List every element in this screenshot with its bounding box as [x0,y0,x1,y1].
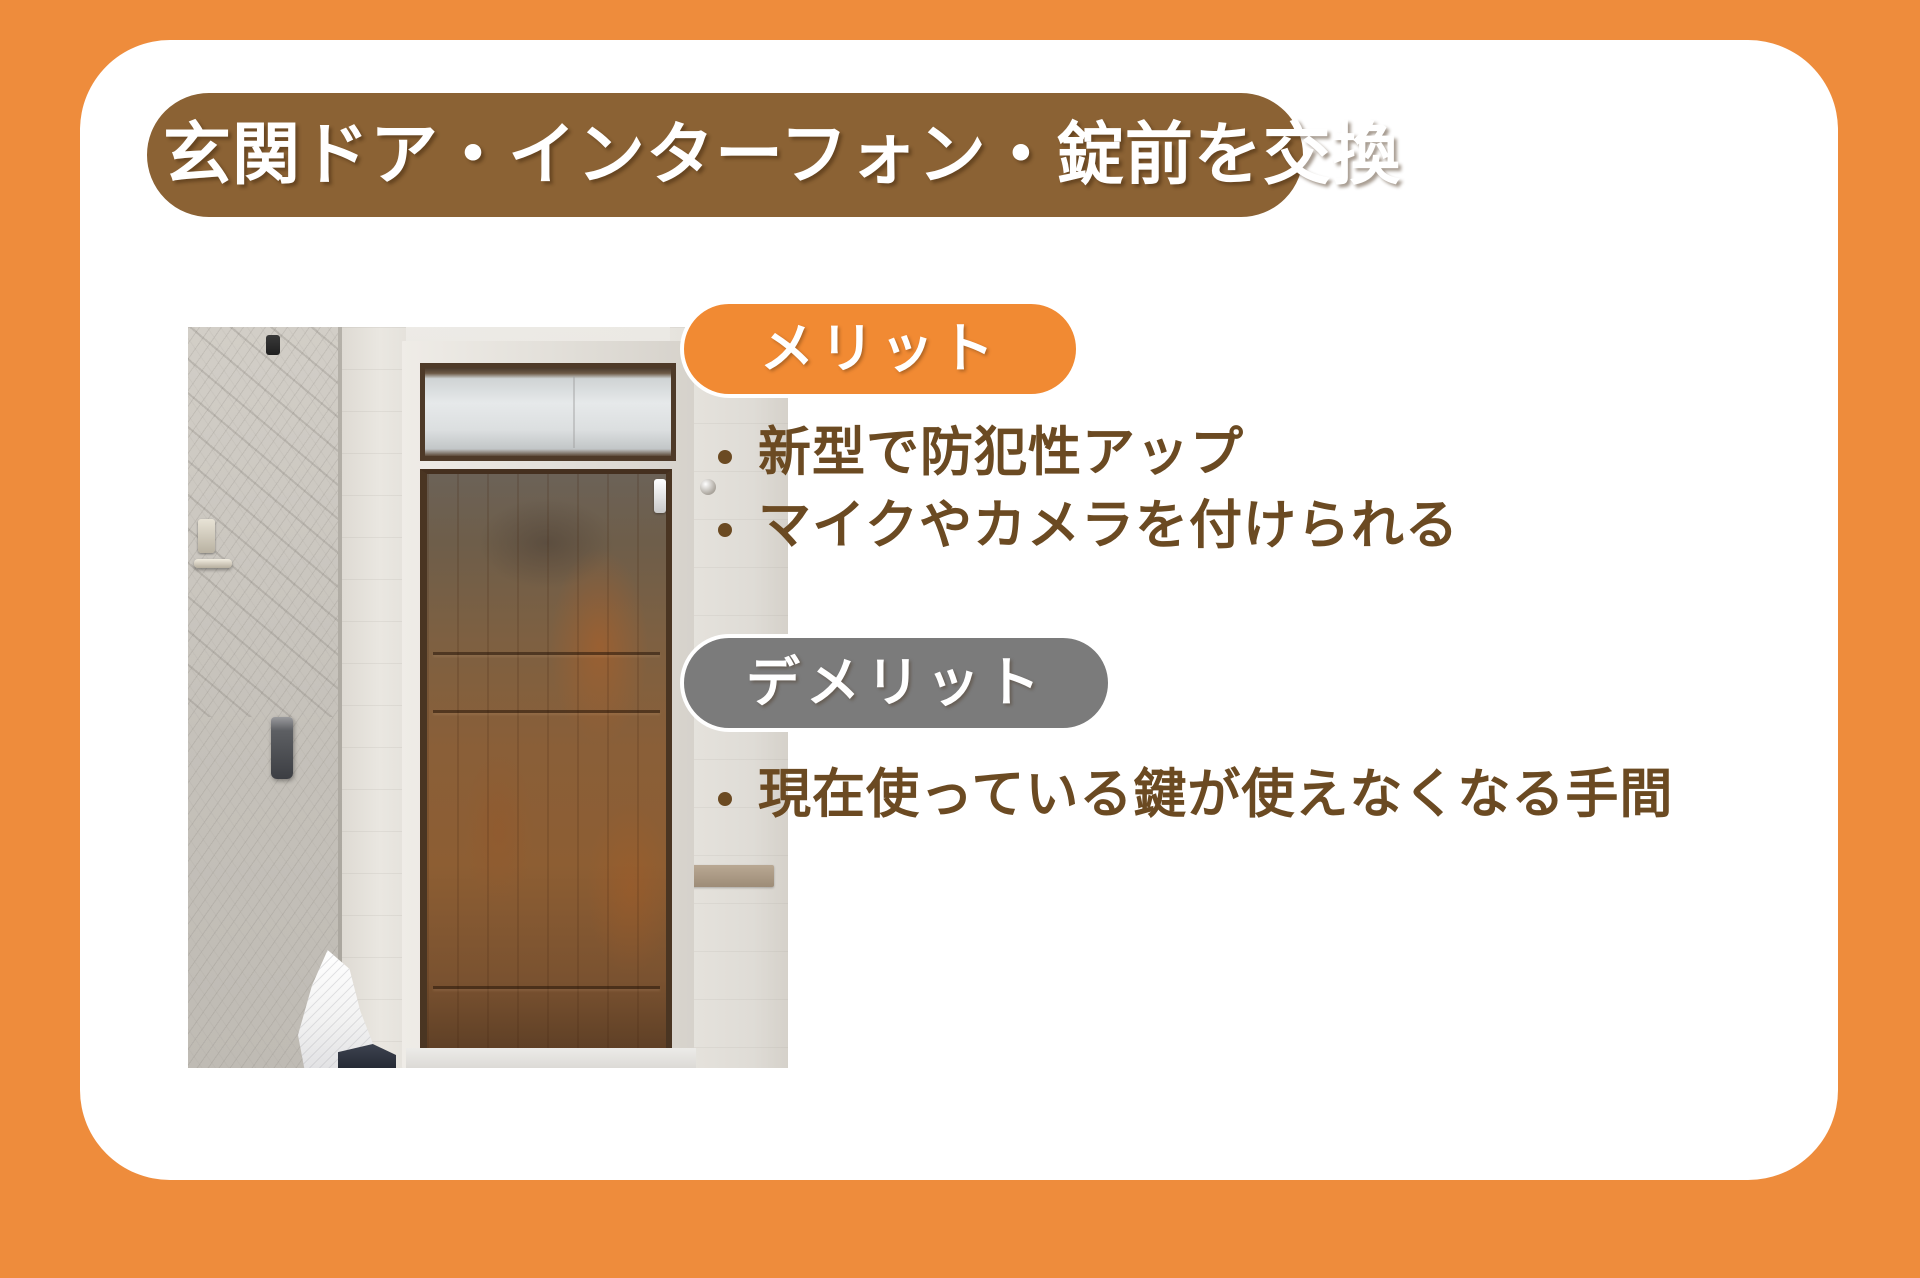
merit-list: 新型で防犯性アップ マイクやカメラを付けられる [684,420,1838,560]
door-lever-handle-icon [194,559,232,568]
list-item: 新型で防犯性アップ [684,420,1838,487]
transom-window [420,363,676,461]
demerit-section: デメリット 現在使っている鍵が使えなくなる手間 [680,616,1838,829]
merit-item-text: 新型で防犯性アップ [758,420,1778,487]
pros-cons-column: メリット 新型で防犯性アップ マイクやカメラを付けられる デメリット [680,300,1838,834]
list-item: 現在使っている鍵が使えなくなる手間 [684,762,1838,829]
wall-lamp-icon [271,717,293,779]
wooden-door-slab [420,469,672,1049]
door-panel-line [433,986,660,989]
demerit-item-text: 現在使っている鍵が使えなくなる手間 [758,762,1778,829]
entry-threshold [406,1048,696,1068]
merit-section: メリット 新型で防犯性アップ マイクやカメラを付けられる [680,300,1838,560]
bullet-dot-icon [718,523,732,537]
eave-fixture-icon [266,335,280,355]
door-panel-line [433,710,660,713]
recessed-jamb-wall [342,327,406,1068]
page-background: 玄関ドア・インターフォン・錠前を交換 [0,0,1920,1278]
header-banner: 玄関ドア・インターフォン・錠前を交換 [142,88,1308,222]
merit-item-text: マイクやカメラを付けられる [758,493,1778,560]
wall-vent-icon [682,865,774,887]
bullet-dot-icon [718,792,732,806]
page-title: 玄関ドア・インターフォン・錠前を交換 [163,121,1401,189]
demerit-badge: デメリット [680,634,1112,732]
card-body: メリット 新型で防犯性アップ マイクやカメラを付けられる デメリット [80,240,1838,1180]
left-siding-wall [188,327,338,1068]
content-card: 玄関ドア・インターフォン・錠前を交換 [80,40,1838,1180]
door-lock-escutcheon-icon [198,519,215,553]
demerit-list: 現在使っている鍵が使えなくなる手間 [684,762,1838,829]
list-item: マイクやカメラを付けられる [684,493,1838,560]
door-sensor-icon [654,479,666,513]
bullet-dot-icon [718,450,732,464]
door-panel-line [433,652,660,655]
merit-badge: メリット [680,300,1080,398]
